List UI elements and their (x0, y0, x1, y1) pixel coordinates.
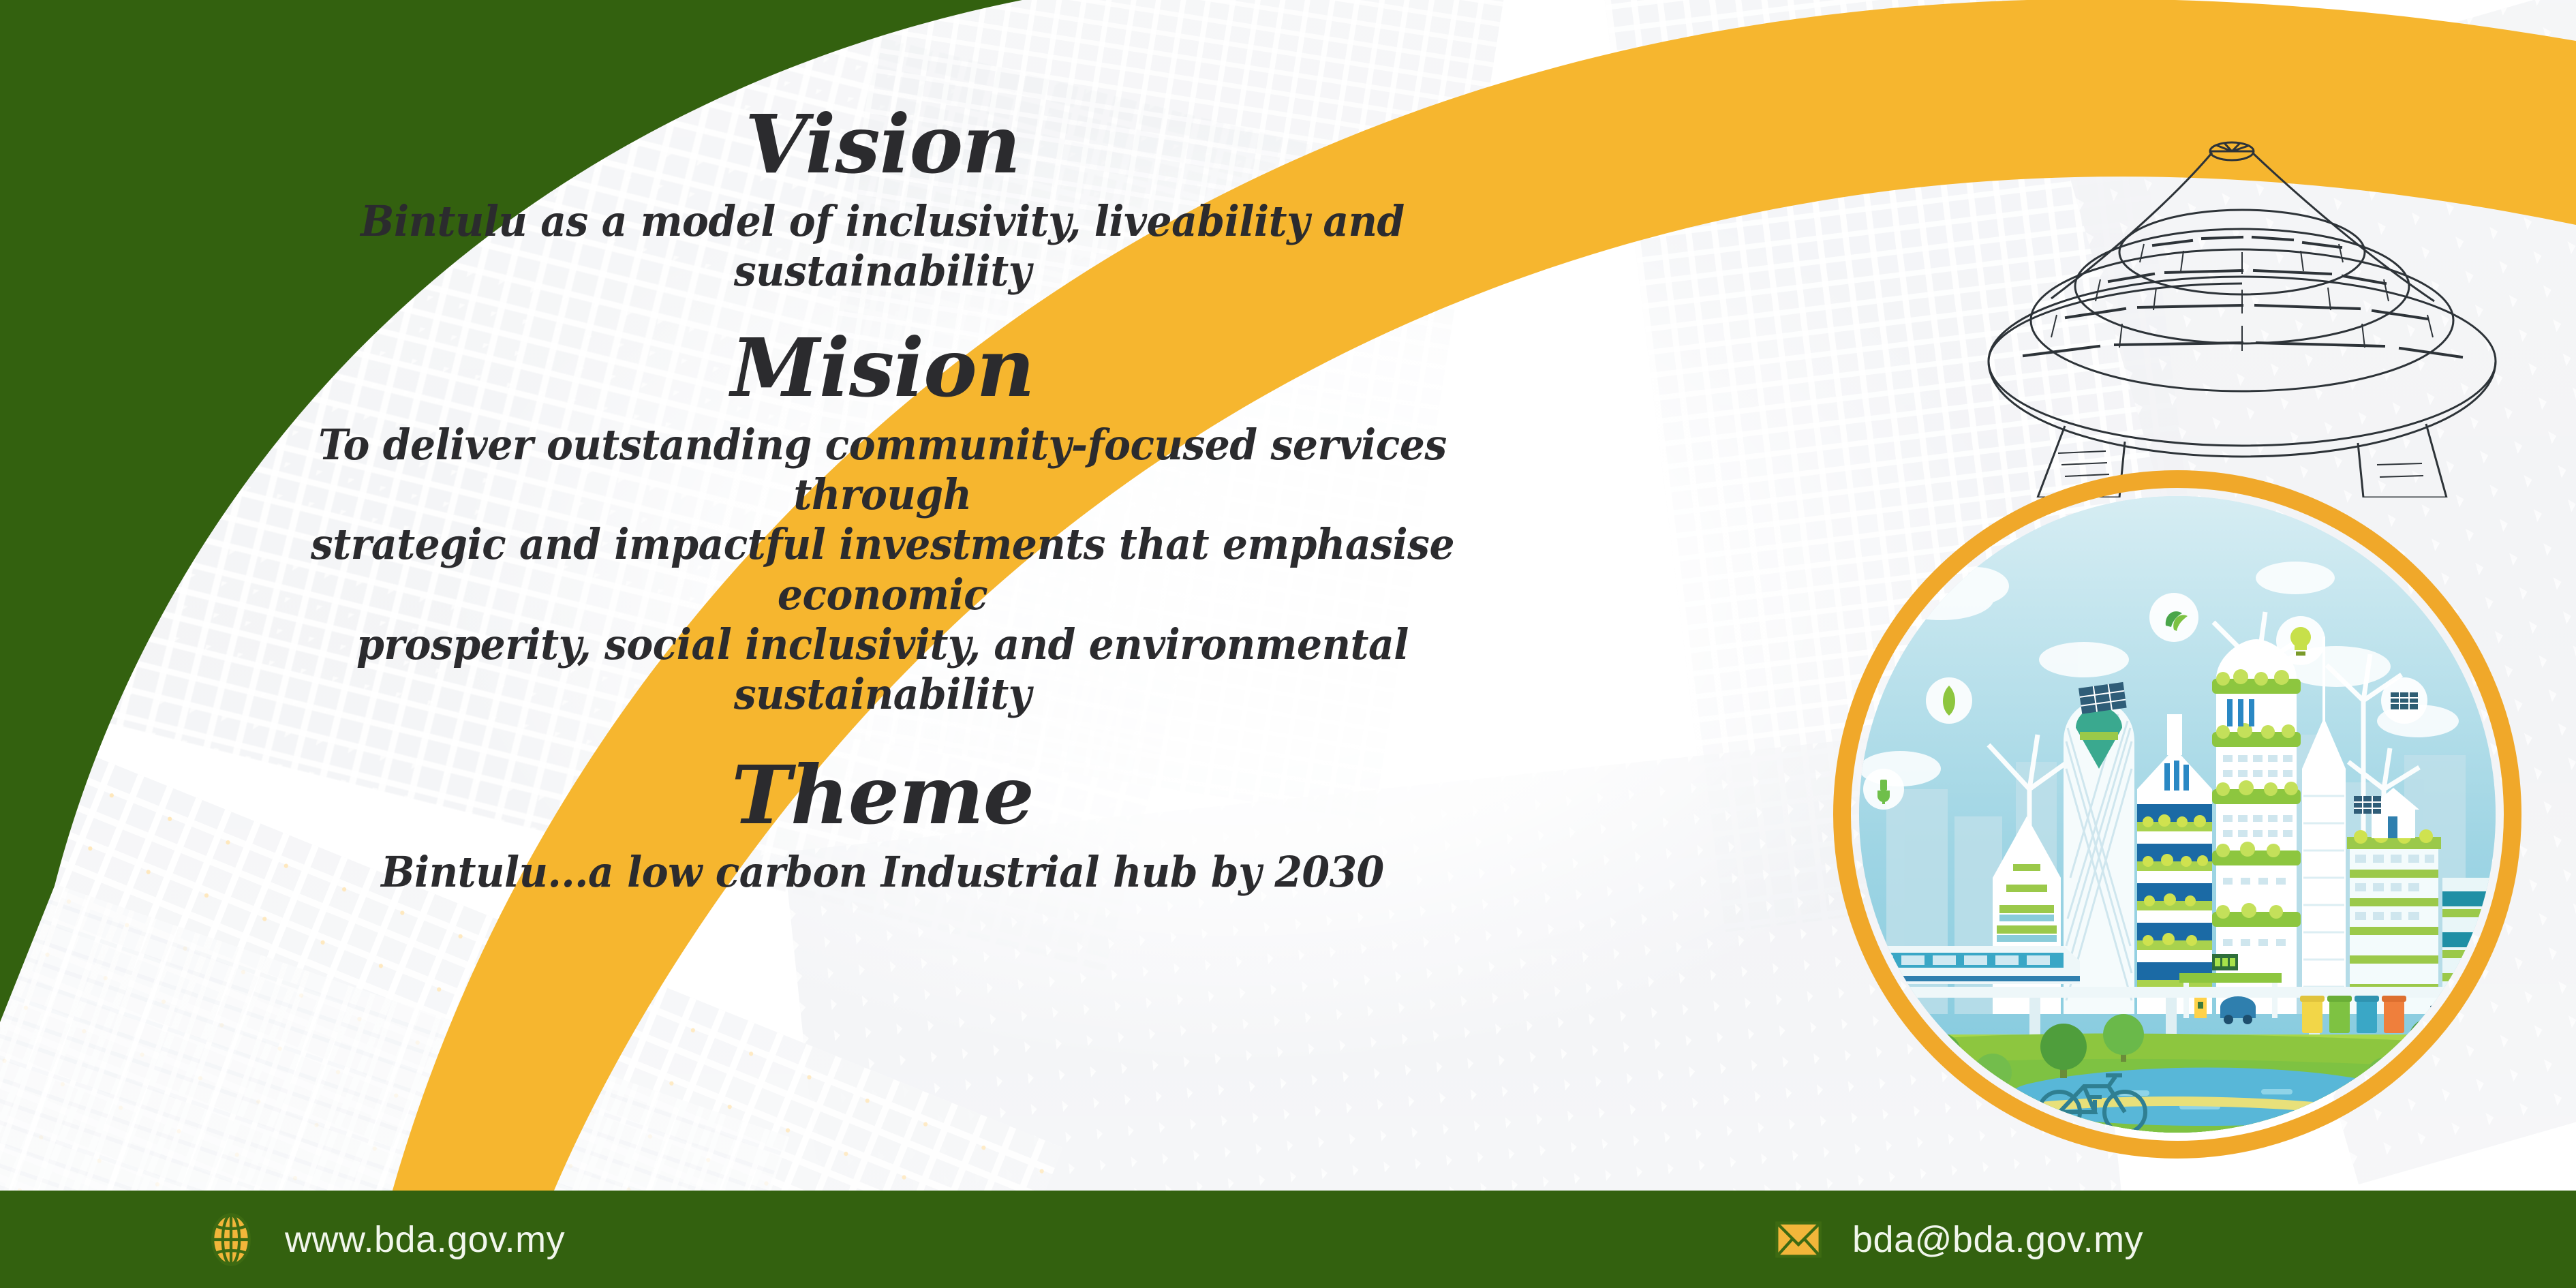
theme-block: Theme Bintulu...a low carbon Industrial … (225, 753, 1540, 897)
envelope-icon (1772, 1213, 1825, 1266)
bda-vision-mission-banner: Vision Bintulu as a model of inclusivity… (0, 0, 2576, 1288)
website-label: www.bda.gov.my (285, 1218, 565, 1261)
mission-block: Mision To deliver outstanding community-… (225, 326, 1540, 719)
vision-heading: Vision (225, 102, 1540, 187)
mission-line-3: prosperity, social inclusivity, and envi… (264, 619, 1501, 719)
vision-block: Vision Bintulu as a model of inclusivity… (225, 102, 1540, 296)
mission-line-1: To deliver outstanding community-focused… (264, 420, 1501, 519)
theme-line-1: Bintulu...a low carbon Industrial hub by… (264, 847, 1501, 897)
mission-heading: Mision (225, 326, 1540, 410)
eco-city-ring-border (1833, 470, 2521, 1159)
theme-heading: Theme (225, 753, 1540, 838)
conical-dome-building-lineart (1949, 116, 2576, 497)
email-label: bda@bda.gov.my (1852, 1218, 2143, 1261)
vision-mission-theme-text: Vision Bintulu as a model of inclusivity… (225, 102, 1540, 904)
mission-line-2: strategic and impactful investments that… (264, 519, 1501, 619)
vision-line-1: Bintulu as a model of inclusivity, livea… (264, 196, 1501, 296)
contact-footer: www.bda.gov.my bda@bda.gov.my (0, 1191, 2576, 1288)
website-contact[interactable]: www.bda.gov.my (204, 1213, 565, 1266)
eco-city-illustration (1833, 470, 2521, 1159)
email-contact[interactable]: bda@bda.gov.my (1772, 1213, 2143, 1266)
globe-icon (204, 1213, 258, 1266)
